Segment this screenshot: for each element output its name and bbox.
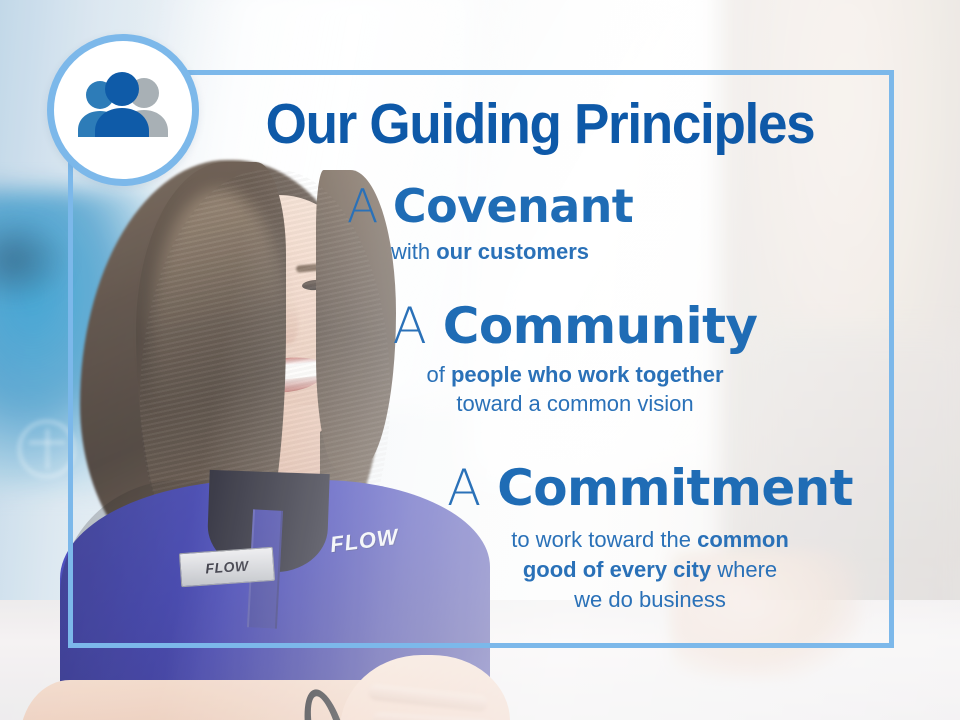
principle-commitment-article: A <box>447 459 481 517</box>
principle-community-keyword: Community <box>443 297 758 355</box>
principle-commitment-subtext: to work toward the commongood of every c… <box>425 525 875 616</box>
people-group-icon <box>74 71 172 149</box>
subtext-emphasis: our customers <box>436 239 589 264</box>
subtext-run: of <box>426 362 450 387</box>
page-title: Our Guiding Principles <box>233 95 847 153</box>
subtext-run: with <box>391 239 436 264</box>
principle-commitment-heading: A Commitment <box>425 462 875 515</box>
subtext-run: where <box>711 557 777 582</box>
subtext-line: we do business <box>425 585 875 615</box>
principle-commitment: A Commitment to work toward the commongo… <box>425 462 875 616</box>
principle-covenant-keyword: Covenant <box>393 179 633 233</box>
principle-covenant: A Covenant with our customers <box>300 182 680 267</box>
people-group-badge <box>47 34 199 186</box>
subtext-emphasis: common <box>697 527 789 552</box>
subtext-run: toward a common vision <box>456 391 693 416</box>
principle-covenant-heading: A Covenant <box>300 182 680 230</box>
subtext-line: toward a common vision <box>355 389 795 418</box>
principle-commitment-keyword: Commitment <box>497 459 853 517</box>
subtext-line: with our customers <box>300 237 680 266</box>
principle-community-article: A <box>393 297 427 355</box>
principle-covenant-article: A <box>347 179 378 233</box>
principle-community-subtext: of people who work togethertoward a comm… <box>355 360 795 419</box>
subtext-emphasis: good of every city <box>523 557 711 582</box>
subtext-line: to work toward the common <box>425 525 875 555</box>
subtext-run: we do business <box>574 587 726 612</box>
subtext-emphasis: people who work together <box>451 362 724 387</box>
guiding-principles-graphic: FLOW FLOW Our Guiding Principl <box>0 0 960 720</box>
principle-covenant-subtext: with our customers <box>300 237 680 266</box>
principle-community-heading: A Community <box>355 300 795 353</box>
subtext-line: good of every city where <box>425 555 875 585</box>
subtext-line: of people who work together <box>355 360 795 389</box>
subtext-run: to work toward the <box>511 527 697 552</box>
principle-community: A Community of people who work togethert… <box>355 300 795 418</box>
